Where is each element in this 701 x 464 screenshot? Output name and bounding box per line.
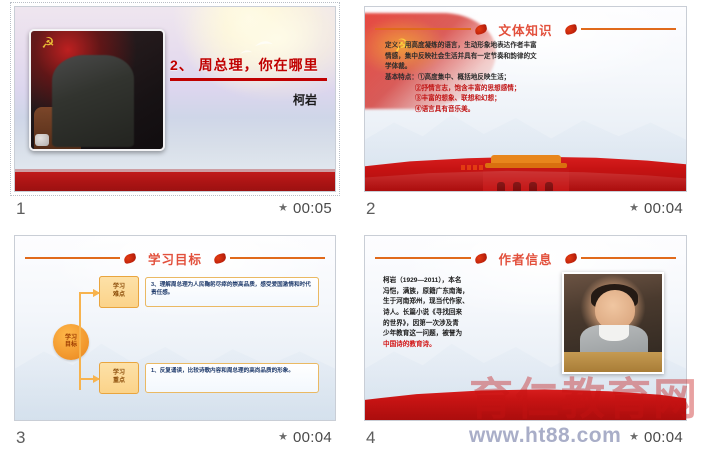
slide-4-body: 柯岩（1929—2011），本名 冯恺，满族，原籍广东南海， 生于河南郑州，现当… (383, 276, 511, 351)
bottom-red-bar (15, 172, 335, 191)
chinese-knot-icon-left (122, 252, 138, 265)
slide-number-4: 4 (366, 429, 375, 446)
slide-sorter-grid: ☭ 2、 周总理，你在哪里 柯岩 1 ★ 00:05 (0, 0, 701, 458)
body-line: 少年教育这一问题，被誉为 (383, 329, 511, 340)
slide-2-header: 文体知识 (375, 19, 676, 39)
portrait-collar (599, 325, 628, 341)
body-line: 柯岩（1929—2011），本名 (383, 276, 511, 287)
star-icon[interactable]: ★ (629, 203, 639, 214)
slide-cell-4: 作者信息 柯岩（1929—2011），本名 冯恺，满族，原籍广东南海， 生于河南… (350, 229, 701, 458)
title-underline (170, 78, 327, 81)
slide-3-timing: ★ 00:04 (278, 429, 332, 446)
row-tag: 学习 难点 (99, 276, 139, 308)
slide-3-header: 学习目标 (25, 248, 325, 268)
chinese-knot-icon-left (473, 252, 489, 265)
party-emblem-icon: ☭ (37, 35, 59, 53)
body-line: 生于河南郑州，现当代作家、 (383, 297, 511, 308)
slide-3-header-text: 学习目标 (148, 249, 202, 268)
slide-number-2: 2 (366, 200, 375, 217)
slide-thumbnail-2[interactable]: ☭ 文体知识 定义：用高度凝练的语言，生动形象地表达作者丰富 情感，集中反映社会… (364, 6, 687, 192)
slide-1-canvas: ☭ 2、 周总理，你在哪里 柯岩 (15, 7, 335, 191)
figure-shape (52, 55, 134, 147)
slide-2-time: 00:04 (644, 200, 683, 217)
diagram-row: 学习 重点 1、反复诵读，比较诗歌内容和周总理的高尚品质的形象。 (99, 362, 319, 393)
slide-3-meta: 3 ★ 00:04 (14, 421, 336, 451)
portrait-desk (564, 352, 662, 372)
chinese-knot-icon-right (212, 252, 228, 265)
body-line: 情感，集中反映社会生活并具有一定节奏和韵律的文 (385, 52, 672, 63)
header-line-left (375, 28, 471, 30)
slide-number-1: 1 (16, 200, 25, 217)
slide-1-title: 2、 周总理，你在哪里 (170, 55, 327, 75)
body-line: 基本特点：①高度集中、概括地反映生活； (385, 73, 672, 84)
slide-4-meta: 4 ★ 00:04 (364, 421, 687, 451)
chinese-knot-icon-left (473, 23, 489, 36)
slide-thumbnail-3[interactable]: 学习目标 学习 目标 学习 重点 (14, 235, 336, 421)
slide-4-header-text: 作者信息 (499, 249, 553, 268)
slide-cell-2: ☭ 文体知识 定义：用高度凝练的语言，生动形象地表达作者丰富 情感，集中反映社会… (350, 0, 701, 229)
body-line: 诗人。长篇小说《寻找回来 (383, 308, 511, 319)
slide-2-body: 定义：用高度凝练的语言，生动形象地表达作者丰富 情感，集中反映社会生活并具有一定… (385, 41, 672, 116)
diagram-arrow (79, 378, 99, 380)
slide-number-3: 3 (16, 429, 25, 446)
portrait-face (595, 290, 634, 329)
body-line-highlight: 中国诗的教育诗。 (383, 340, 511, 351)
body-line: 学体裁。 (385, 62, 672, 73)
slide-1-author: 柯岩 (293, 91, 317, 108)
slide-cell-1: ☭ 2、 周总理，你在哪里 柯岩 1 ★ 00:05 (0, 0, 350, 229)
row-text: 3、理解周总理为人民鞠躬尽瘁的崇高品质，感受爱国激情和时代责任感。 (145, 277, 319, 307)
chinese-knot-icon-right (563, 252, 579, 265)
teacup-shape (35, 134, 49, 146)
diagram-row: 学习 难点 3、理解周总理为人民鞠躬尽瘁的崇高品质，感受爱国激情和时代责任感。 (99, 276, 319, 307)
star-icon[interactable]: ★ (278, 203, 288, 214)
star-icon[interactable]: ★ (278, 432, 288, 443)
header-line-right (581, 257, 677, 259)
slide-cell-3: 学习目标 学习 目标 学习 重点 (0, 229, 350, 458)
slide-thumbnail-1[interactable]: ☭ 2、 周总理，你在哪里 柯岩 (14, 6, 336, 192)
slide-4-time: 00:04 (644, 429, 683, 446)
header-line-right (230, 257, 325, 259)
author-portrait (562, 272, 664, 374)
body-line: 的世界》，因第一次涉及青 (383, 319, 511, 330)
slide-3-time: 00:04 (293, 429, 332, 446)
hub-label-line1: 学习 (65, 335, 77, 343)
row-tag: 学习 重点 (99, 362, 139, 394)
slide-2-timing: ★ 00:04 (629, 200, 683, 217)
chinese-knot-icon-right (563, 23, 579, 36)
slide-4-timing: ★ 00:04 (629, 429, 683, 446)
slide-4-header: 作者信息 (375, 248, 676, 268)
body-line: 冯恺，满族，原籍广东南海， (383, 287, 511, 298)
header-line-right (581, 28, 677, 30)
star-icon[interactable]: ★ (629, 432, 639, 443)
diagram-spine (79, 294, 81, 390)
header-line-left (375, 257, 471, 259)
flag-row (461, 165, 485, 170)
hub-label-line2: 目标 (65, 342, 77, 350)
header-line-left (25, 257, 120, 259)
diagram-arrow (79, 292, 99, 294)
body-line: 定义：用高度凝练的语言，生动形象地表达作者丰富 (385, 41, 672, 52)
row-text: 1、反复诵读，比较诗歌内容和周总理的高尚品质的形象。 (145, 363, 319, 393)
body-line: ③丰富的想象、联想和幻想； (415, 94, 672, 105)
slide-1-meta: 1 ★ 00:05 (14, 192, 336, 222)
body-line: ②抒情言志，饱含丰富的思想感情； (415, 84, 672, 95)
slide-thumbnail-4[interactable]: 作者信息 柯岩（1929—2011），本名 冯恺，满族，原籍广东南海， 生于河南… (364, 235, 687, 421)
tag-line1: 学习 (113, 370, 125, 378)
slide-1-time: 00:05 (293, 200, 332, 217)
diagram-hub: 学习 目标 (53, 324, 89, 360)
tag-line1: 学习 (113, 284, 125, 292)
tag-line2: 重点 (113, 378, 125, 386)
tag-line2: 难点 (113, 292, 125, 300)
zhou-enlai-photo: ☭ (29, 29, 165, 151)
slide-2-header-text: 文体知识 (499, 20, 553, 39)
slide-2-meta: 2 ★ 00:04 (364, 192, 687, 222)
objectives-diagram: 学习 目标 学习 重点 1、反复诵读，比较诗歌内容和周总理的高尚品质的形象。 (53, 276, 319, 408)
body-line: ④语言具有音乐美。 (415, 105, 672, 116)
slide-1-timing: ★ 00:05 (278, 200, 332, 217)
